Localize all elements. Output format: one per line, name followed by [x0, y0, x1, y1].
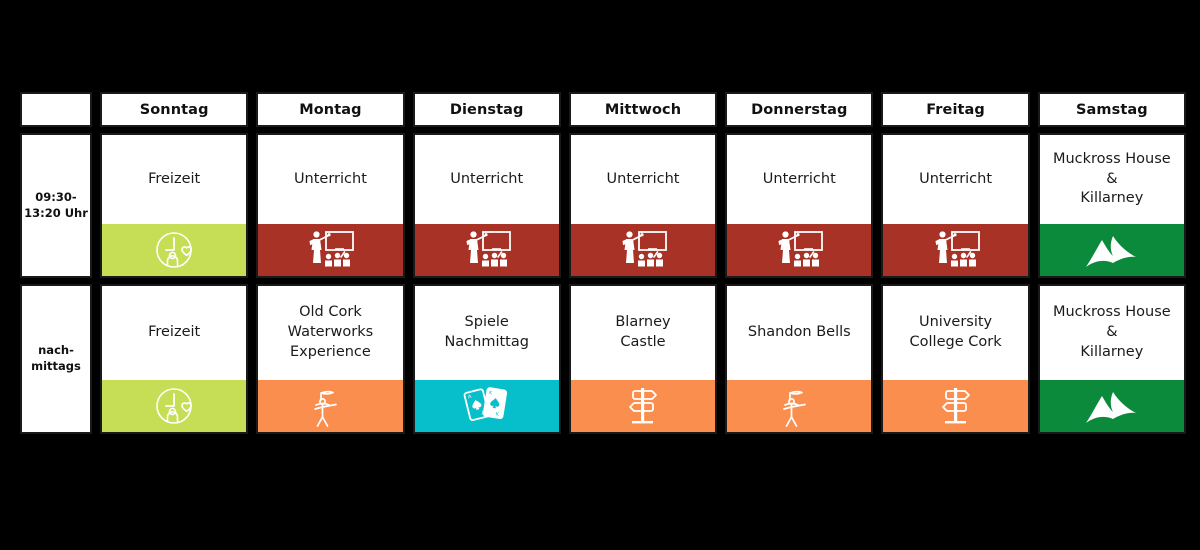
time-label-text: nach- mittags [31, 343, 81, 374]
activity-label: University College Cork [883, 286, 1027, 380]
time-label-row-0: 09:30- 13:20 Uhr [20, 133, 92, 278]
activity-cell[interactable]: Unterricht [413, 133, 561, 278]
activity-cell[interactable]: Unterricht [256, 133, 404, 278]
header-corner-cell [20, 92, 92, 127]
activity-label: Spiele Nachmittag [415, 286, 559, 380]
activity-label: Muckross House & Killarney [1040, 286, 1184, 380]
activity-cell[interactable]: Spiele Nachmittag A A K K [413, 284, 561, 434]
activity-label: Freizeit [102, 135, 246, 224]
activity-label: Old Cork Waterworks Experience [258, 286, 402, 380]
activity-label: Shandon Bells [727, 286, 871, 380]
mountain-icon [1040, 224, 1184, 276]
activity-label: Freizeit [102, 286, 246, 380]
activity-cell[interactable]: Old Cork Waterworks Experience [256, 284, 404, 434]
classroom-teaching-icon [727, 224, 871, 276]
activity-cell[interactable]: Muckross House & Killarney [1038, 284, 1186, 434]
activity-label: Blarney Castle [571, 286, 715, 380]
time-label-text: 09:30- 13:20 Uhr [24, 190, 88, 221]
mountain-icon [1040, 380, 1184, 432]
activity-label: Unterricht [415, 135, 559, 224]
activity-label: Unterricht [727, 135, 871, 224]
tour-guide-icon [258, 380, 402, 432]
day-header-sonntag[interactable]: Sonntag [100, 92, 248, 127]
svg-text:A: A [467, 394, 472, 401]
day-header-mittwoch[interactable]: Mittwoch [569, 92, 717, 127]
tour-guide-icon [727, 380, 871, 432]
activity-cell[interactable]: Blarney Castle [569, 284, 717, 434]
activity-cell[interactable]: Muckross House & Killarney [1038, 133, 1186, 278]
activity-cell[interactable]: Unterricht [881, 133, 1029, 278]
day-header-donnerstag[interactable]: Donnerstag [725, 92, 873, 127]
activity-cell[interactable]: Freizeit [100, 284, 248, 434]
activity-cell[interactable]: Shandon Bells [725, 284, 873, 434]
leisure-clock-icon [102, 380, 246, 432]
classroom-teaching-icon [883, 224, 1027, 276]
activity-cell[interactable]: Freizeit [100, 133, 248, 278]
activity-label: Muckross House & Killarney [1040, 135, 1184, 224]
activity-label: Unterricht [883, 135, 1027, 224]
activity-label: Unterricht [571, 135, 715, 224]
playing-cards-icon: A A K K [415, 380, 559, 432]
activity-cell[interactable]: University College Cork [881, 284, 1029, 434]
leisure-clock-icon [102, 224, 246, 276]
activity-label: Unterricht [258, 135, 402, 224]
activity-cell[interactable]: Unterricht [569, 133, 717, 278]
signpost-icon [571, 380, 715, 432]
day-header-freitag[interactable]: Freitag [881, 92, 1029, 127]
activity-cell[interactable]: Unterricht [725, 133, 873, 278]
schedule-root: SonntagMontagDienstagMittwochDonnerstagF… [0, 0, 1200, 550]
day-header-montag[interactable]: Montag [256, 92, 404, 127]
classroom-teaching-icon [571, 224, 715, 276]
classroom-teaching-icon [415, 224, 559, 276]
weekly-schedule-grid: SonntagMontagDienstagMittwochDonnerstagF… [20, 92, 1186, 434]
day-header-dienstag[interactable]: Dienstag [413, 92, 561, 127]
day-header-samstag[interactable]: Samstag [1038, 92, 1186, 127]
time-label-row-1: nach- mittags [20, 284, 92, 434]
classroom-teaching-icon [258, 224, 402, 276]
signpost-icon [883, 380, 1027, 432]
